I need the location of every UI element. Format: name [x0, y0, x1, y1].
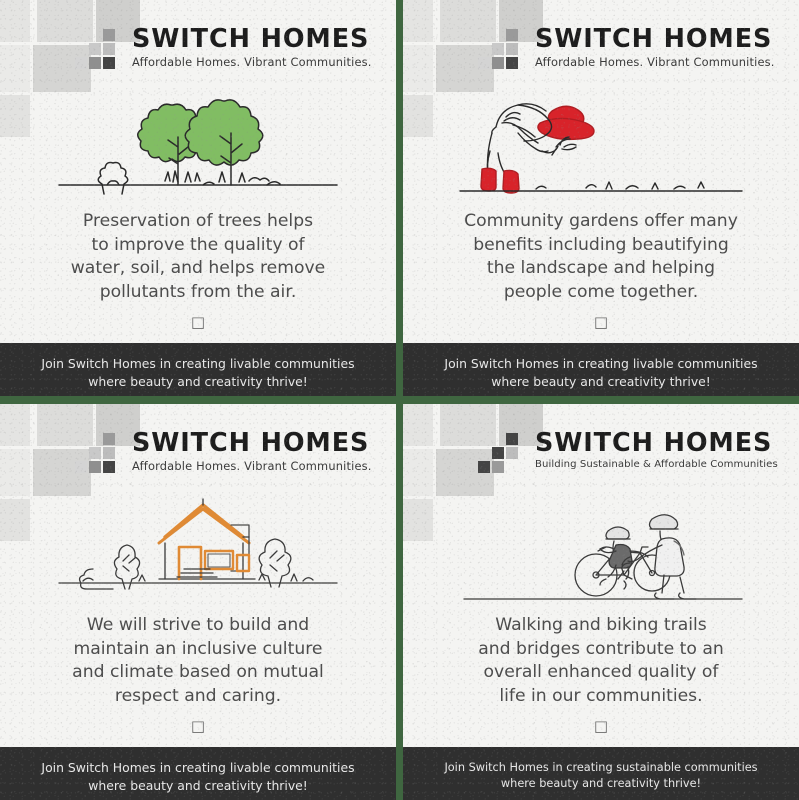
message-line: Preservation of trees helps	[52, 210, 344, 234]
empty-box-glyph: □	[52, 719, 344, 734]
spacer	[403, 330, 799, 343]
poster-grid: SWITCH HOMES Affordable Homes. Vibrant C…	[0, 0, 799, 797]
message-line: pollutants from the air.	[52, 281, 344, 305]
switch-homes-logo-icon	[83, 433, 121, 471]
panel-message: Community gardens offer many benefits in…	[403, 204, 799, 330]
message-line: people come together.	[455, 281, 747, 305]
brand-header: SWITCH HOMES Affordable Homes. Vibrant C…	[403, 0, 799, 84]
panel-message: Preservation of trees helps to improve t…	[0, 204, 396, 330]
brand-header: SWITCH HOMES Affordable Homes. Vibrant C…	[0, 0, 396, 84]
footer-line: where beauty and creativity thrive!	[10, 777, 386, 795]
panel-trees[interactable]: SWITCH HOMES Affordable Homes. Vibrant C…	[0, 0, 396, 396]
message-line: and climate based on mutual	[52, 661, 344, 685]
empty-box-glyph: □	[455, 719, 747, 734]
house-with-trees-icon	[0, 488, 396, 608]
panel-house[interactable]: SWITCH HOMES Affordable Homes. Vibrant C…	[0, 404, 396, 800]
brand-tagline: Affordable Homes. Vibrant Communities.	[535, 55, 775, 69]
message-line: Walking and biking trails	[455, 614, 747, 638]
message-line: Community gardens offer many	[455, 210, 747, 234]
brand-name: SWITCH HOMES	[535, 26, 775, 52]
switch-homes-logo-icon	[486, 29, 524, 67]
panel-biking[interactable]: SWITCH HOMES Building Sustainable & Affo…	[403, 404, 799, 800]
footer-line: Join Switch Homes in creating livable co…	[413, 355, 789, 373]
gardener-planting-icon	[403, 84, 799, 204]
message-line: We will strive to build and	[52, 614, 344, 638]
brand-header: SWITCH HOMES Affordable Homes. Vibrant C…	[0, 404, 396, 488]
brand-name: SWITCH HOMES	[132, 26, 372, 52]
message-line: overall enhanced quality of	[455, 661, 747, 685]
message-line: maintain an inclusive culture	[52, 638, 344, 662]
footer-line: Join Switch Homes in creating livable co…	[10, 355, 386, 373]
message-line: water, soil, and helps remove	[52, 257, 344, 281]
panel-garden[interactable]: SWITCH HOMES Affordable Homes. Vibrant C…	[403, 0, 799, 396]
message-line: and bridges contribute to an	[455, 638, 747, 662]
panel-message: We will strive to build and maintain an …	[0, 608, 396, 734]
message-line: benefits including beautifying	[455, 234, 747, 258]
brand-header: SWITCH HOMES Building Sustainable & Affo…	[403, 404, 799, 488]
panel-footer: Join Switch Homes in creating livable co…	[403, 343, 799, 396]
footer-line: where beauty and creativity thrive!	[10, 373, 386, 391]
message-line: life in our communities.	[455, 685, 747, 709]
panel-message: Walking and biking trails and bridges co…	[403, 608, 799, 734]
brand-tagline: Building Sustainable & Affordable Commun…	[535, 459, 778, 470]
brand-tagline: Affordable Homes. Vibrant Communities.	[132, 459, 372, 473]
message-line: to improve the quality of	[52, 234, 344, 258]
switch-homes-logo-icon	[83, 29, 121, 67]
panel-footer: Join Switch Homes in creating sustainabl…	[403, 747, 799, 800]
brand-name: SWITCH HOMES	[535, 430, 778, 456]
footer-line: where beauty and creativity thrive!	[413, 776, 789, 792]
trees-with-bush-icon	[0, 84, 396, 204]
spacer	[0, 330, 396, 343]
panel-footer: Join Switch Homes in creating livable co…	[0, 747, 396, 800]
brand-tagline: Affordable Homes. Vibrant Communities.	[132, 55, 372, 69]
panel-footer: Join Switch Homes in creating livable co…	[0, 343, 396, 396]
message-line: respect and caring.	[52, 685, 344, 709]
switch-homes-logo-icon	[486, 433, 524, 471]
message-line: the landscape and helping	[455, 257, 747, 281]
footer-line: Join Switch Homes in creating livable co…	[10, 759, 386, 777]
empty-box-glyph: □	[52, 315, 344, 330]
brand-name: SWITCH HOMES	[132, 430, 372, 456]
empty-box-glyph: □	[455, 315, 747, 330]
spacer	[403, 734, 799, 747]
footer-line: Join Switch Homes in creating sustainabl…	[413, 760, 789, 776]
spacer	[0, 734, 396, 747]
adult-teaching-child-biking-icon	[403, 488, 799, 608]
footer-line: where beauty and creativity thrive!	[413, 373, 789, 391]
